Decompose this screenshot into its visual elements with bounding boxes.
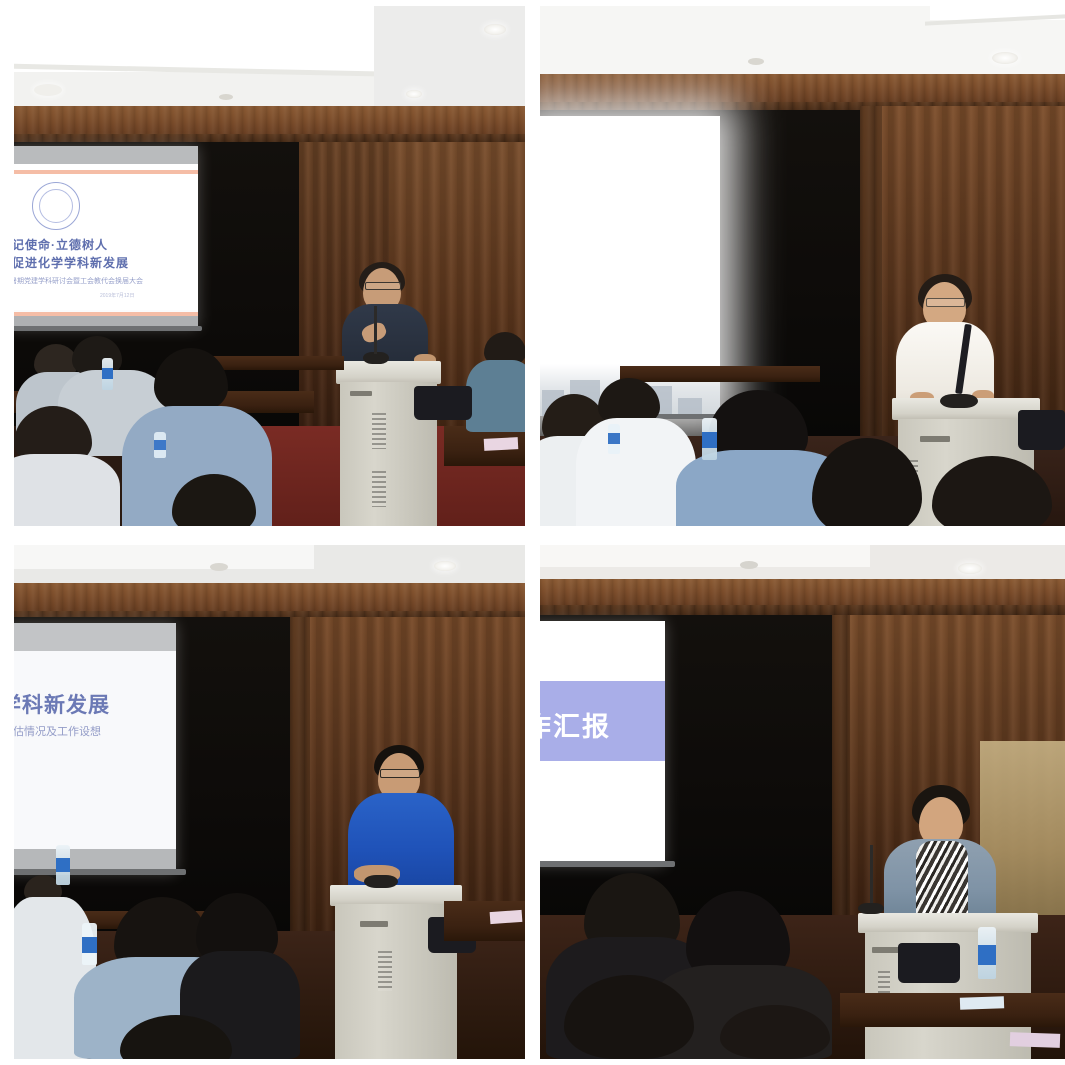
audience-body <box>14 454 120 526</box>
screen-bottom-bar <box>540 861 675 867</box>
podium-vent <box>378 951 392 991</box>
slide-title-line1: 作汇报 <box>540 705 611 744</box>
podium-top-surface <box>858 913 1038 933</box>
water-bottle <box>82 923 97 965</box>
microphone-arm <box>374 306 377 354</box>
slide-subtitle: 评估情况及工作设想 <box>14 723 101 739</box>
screen-bottom-bar <box>14 326 202 331</box>
desk-paper <box>1010 1032 1060 1048</box>
speaker-patterned-blouse <box>916 841 968 923</box>
ceiling-speaker-icon <box>748 58 764 65</box>
screen-bottom-bar <box>14 869 186 875</box>
ceiling-recess <box>14 545 314 569</box>
podium <box>330 885 462 1059</box>
ceiling-speaker-icon <box>219 94 233 100</box>
microphone-arm <box>870 845 873 907</box>
desk-paper <box>960 996 1004 1010</box>
slide-title-line1: 学科新发展 <box>14 689 110 719</box>
wood-pillar <box>860 106 882 446</box>
audience-desk <box>840 993 1065 1027</box>
downlight-icon <box>34 84 62 96</box>
podium-vent <box>372 471 386 507</box>
audience-body <box>466 360 525 432</box>
speaker-glasses-icon <box>365 282 401 290</box>
podium-vent <box>372 413 386 449</box>
bottle-label <box>154 440 166 450</box>
bottle-label <box>702 432 717 448</box>
downlight-icon <box>210 563 228 571</box>
podium-plate <box>350 391 372 396</box>
water-bottle <box>102 358 113 390</box>
slide-date: 2019年7月12日 <box>100 292 134 299</box>
microphone-base <box>940 394 978 408</box>
panel-bottom-right[interactable]: 作汇报 <box>540 545 1065 1059</box>
microphone-base <box>858 903 884 914</box>
slide-subtitle: 暑期党建学科研讨会暨工会教代会换届大会 <box>14 276 143 286</box>
podium-bag <box>414 386 472 420</box>
ceiling-recess <box>540 545 870 567</box>
projection-screen: 作汇报 <box>540 621 665 865</box>
downlight-icon <box>958 563 982 574</box>
panel-top-right[interactable] <box>540 6 1065 526</box>
projection-screen: 记使命·立德树人 促进化学学科新发展 暑期党建学科研讨会暨工会教代会换届大会 2… <box>14 146 198 328</box>
bottle-label <box>978 945 996 965</box>
downlight-icon <box>992 52 1018 64</box>
screen-top-band <box>14 623 176 651</box>
bottle-label <box>56 858 70 872</box>
panel-top-left[interactable]: 记使命·立德树人 促进化学学科新发展 暑期党建学科研讨会暨工会教代会换届大会 2… <box>14 6 525 526</box>
bottle-label <box>608 433 620 444</box>
microphone-base <box>364 875 398 888</box>
bottle-label <box>102 368 113 379</box>
water-bottle <box>608 424 620 454</box>
slide-accent-band-top <box>14 170 198 174</box>
desk-paper <box>484 437 519 451</box>
audience-desk <box>620 366 820 382</box>
slide-content: 作汇报 <box>540 621 665 865</box>
water-bottle <box>154 432 166 458</box>
podium-plate <box>920 436 950 442</box>
bottle-label <box>82 937 97 953</box>
downlight-icon <box>406 90 422 98</box>
water-bottle <box>56 845 70 885</box>
podium-bag <box>898 943 960 983</box>
wood-pillar <box>290 617 310 937</box>
speaker-glasses-icon <box>926 298 965 307</box>
slide-title-line2: 促进化学学科新发展 <box>14 254 129 271</box>
podium-plate <box>360 921 388 927</box>
slide-content: 学科新发展 评估情况及工作设想 <box>14 651 176 849</box>
slide-content: 记使命·立德树人 促进化学学科新发展 暑期党建学科研讨会暨工会教代会换届大会 2… <box>14 164 198 310</box>
slide-title-line1: 记使命·立德树人 <box>14 236 108 253</box>
screen-top-band <box>14 146 198 164</box>
speaker-glasses-icon <box>380 769 420 778</box>
ceiling-soffit <box>374 6 525 118</box>
water-bottle <box>978 927 996 979</box>
downlight-icon <box>740 561 758 569</box>
water-bottle <box>702 418 717 460</box>
podium-top-surface <box>336 361 441 384</box>
wood-pillar <box>832 615 850 921</box>
downlight-icon <box>484 24 506 35</box>
panel-bottom-left[interactable]: 学科新发展 评估情况及工作设想 <box>14 545 525 1059</box>
projection-screen: 学科新发展 评估情况及工作设想 <box>14 623 176 873</box>
podium-top-surface <box>330 885 462 906</box>
photo-collage: 记使命·立德树人 促进化学学科新发展 暑期党建学科研讨会暨工会教代会换届大会 2… <box>0 0 1065 1065</box>
downlight-icon <box>434 561 456 571</box>
desk-paper <box>490 910 523 924</box>
university-seal-icon <box>32 182 80 230</box>
podium-bag <box>1018 410 1065 450</box>
